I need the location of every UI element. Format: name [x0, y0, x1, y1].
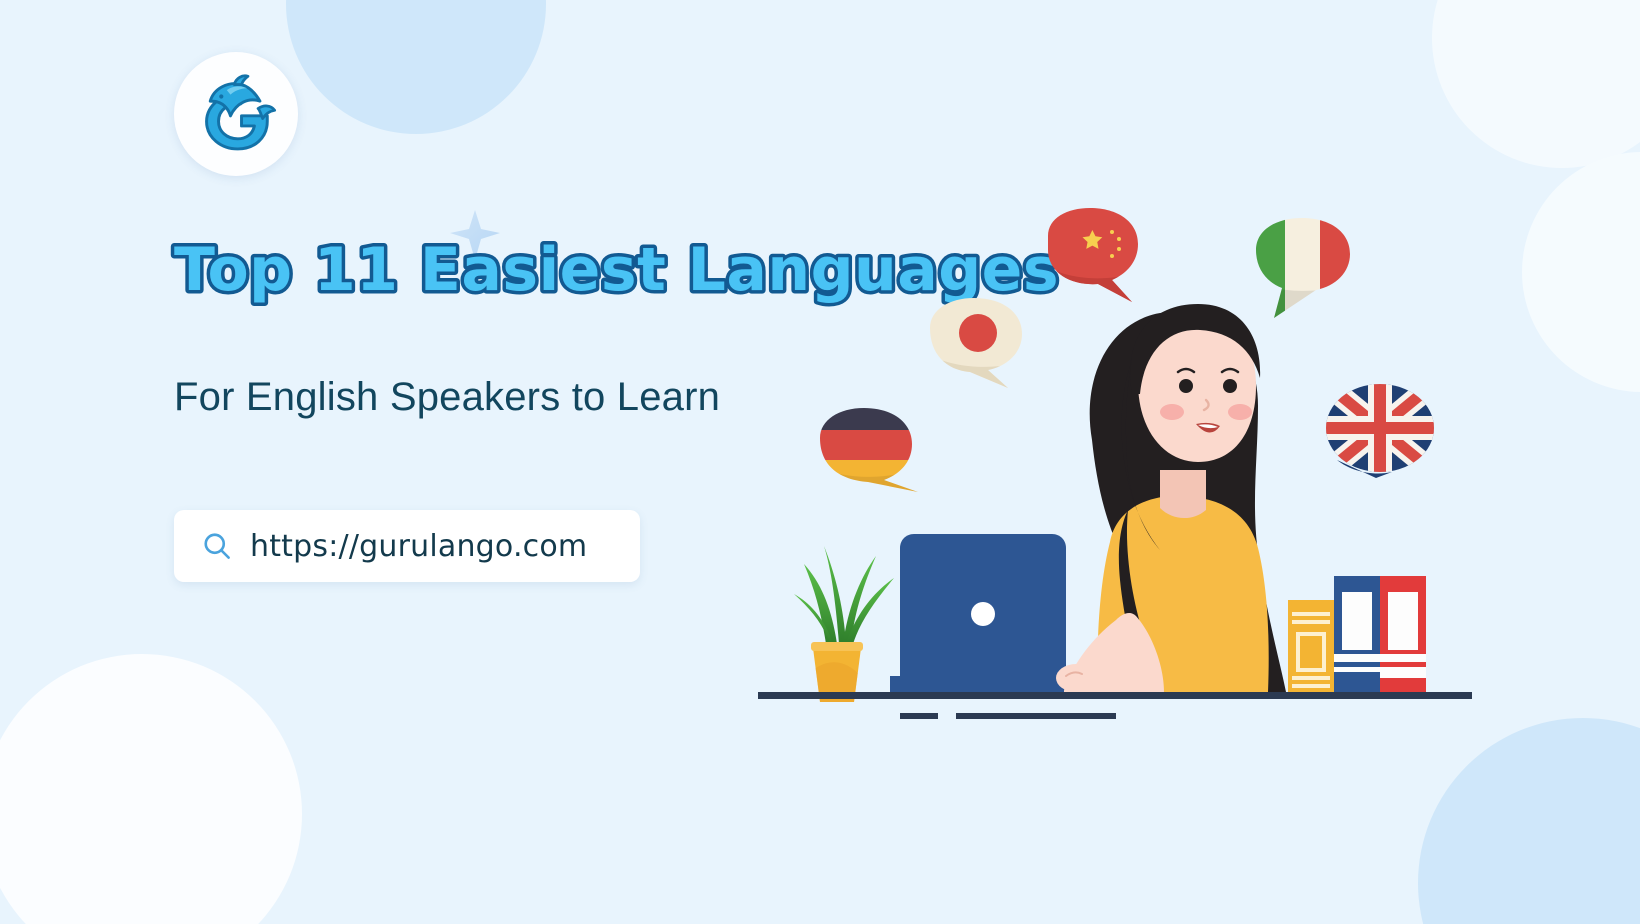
hero-illustration [740, 210, 1520, 740]
search-icon [202, 531, 232, 561]
book-blue [1334, 576, 1380, 692]
flag-bubble-germany [810, 400, 926, 510]
flag-bubble-uk [1324, 382, 1436, 478]
desk-mark-2 [956, 713, 1116, 719]
blob-bottom-right [1418, 718, 1640, 924]
page-subtitle: For English Speakers to Learn [174, 375, 720, 420]
blob-top-right-2 [1522, 152, 1640, 392]
blob-top-left [286, 0, 546, 134]
dolphin-g-logo-icon [190, 68, 282, 160]
book-red [1380, 576, 1426, 692]
flag-bubble-japan [922, 298, 1030, 400]
desk-surface [758, 692, 1472, 699]
flag-bubble-china [1040, 208, 1140, 310]
book-yellow [1288, 600, 1334, 692]
brand-logo[interactable] [174, 52, 298, 176]
desk-mark-1 [900, 713, 938, 719]
search-input[interactable]: https://gurulango.com [174, 510, 640, 582]
laptop-logo-icon [971, 602, 995, 626]
search-input-value: https://gurulango.com [250, 529, 587, 564]
blob-bottom-left [0, 654, 302, 924]
hero-banner: Top 11 Easiest Languages Top 11 Easiest … [0, 0, 1640, 924]
blob-top-right-1 [1432, 0, 1640, 168]
flag-bubble-italy [1245, 210, 1360, 335]
book-stack [1288, 576, 1426, 692]
character-woman [1056, 304, 1286, 692]
potted-plant [794, 546, 894, 710]
